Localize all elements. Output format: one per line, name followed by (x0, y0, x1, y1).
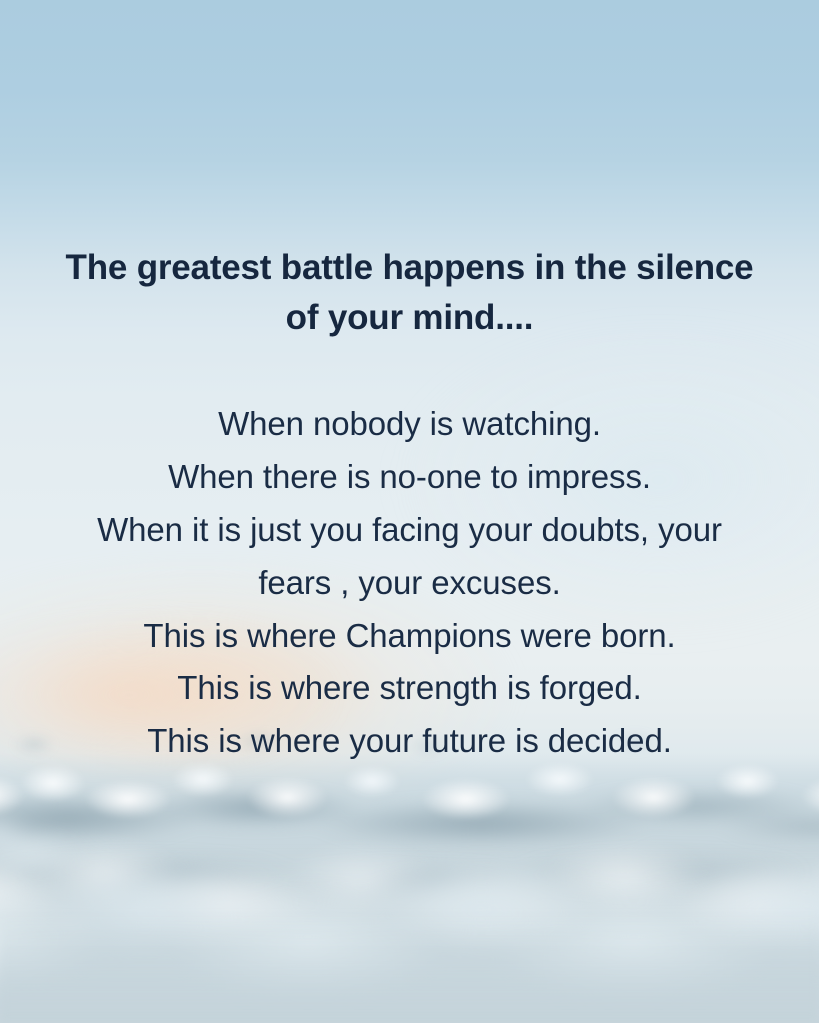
quote-line-5: This is where Champions were born. (14, 610, 805, 663)
cloud-bottom-haze (0, 913, 819, 1023)
quote-line-6: This is where strength is forged. (14, 662, 805, 715)
quote-line-2: When there is no-one to impress. (14, 451, 805, 504)
headline: The greatest battle happens in the silen… (14, 243, 805, 342)
headline-line-2: of your mind.... (14, 293, 805, 343)
quote-body: When nobody is watching. When there is n… (14, 398, 805, 768)
quote-line-4: fears , your excuses. (14, 557, 805, 610)
poster-content: The greatest battle happens in the silen… (0, 0, 819, 768)
cloud-field (0, 723, 819, 1023)
quote-line-7: This is where your future is decided. (14, 715, 805, 768)
quote-line-1: When nobody is watching. (14, 398, 805, 451)
quote-line-3: When it is just you facing your doubts, … (14, 504, 805, 557)
quote-poster: The greatest battle happens in the silen… (0, 0, 819, 1023)
headline-line-1: The greatest battle happens in the silen… (14, 243, 805, 293)
